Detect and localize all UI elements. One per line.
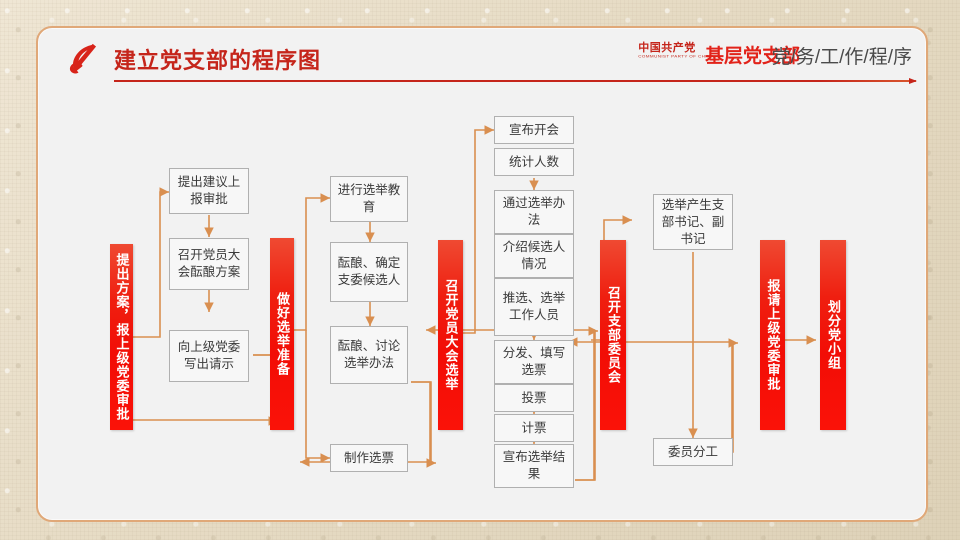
brand-subtitle: 党/务/工/作/程/序 [772, 42, 912, 69]
step-box-3-1[interactable]: 宣布开会 [494, 116, 574, 144]
stage-bar-3[interactable]: 召开党员大会选举 [438, 240, 463, 430]
step-box-2-3[interactable]: 酝酿、讨论选举办法 [330, 326, 408, 384]
stage-bar-4[interactable]: 召开支部委员会 [600, 240, 626, 430]
step-box-2-1[interactable]: 进行选举教育 [330, 176, 408, 222]
diagram-panel: 建立党支部的程序图 中国共产党 COMMUNIST PARTY OF CHINA… [36, 26, 928, 522]
step-box-3-8[interactable]: 计票 [494, 414, 574, 442]
step-box-3-3[interactable]: 通过选举办法 [494, 190, 574, 234]
step-box-4-2[interactable]: 委员分工 [653, 438, 733, 466]
brand-cpc-english: COMMUNIST PARTY OF CHINA [638, 54, 714, 59]
step-box-3-6[interactable]: 分发、填写选票 [494, 340, 574, 384]
step-box-3-9[interactable]: 宣布选举结果 [494, 444, 574, 488]
step-box-1-2[interactable]: 召开党员大会酝酿方案 [169, 238, 249, 290]
step-box-2-4[interactable]: 制作选票 [330, 444, 408, 472]
stage-bar-6[interactable]: 划分党小组 [820, 240, 846, 430]
step-box-3-5[interactable]: 推选、选举工作人员 [494, 278, 574, 336]
page-title: 建立党支部的程序图 [114, 43, 321, 75]
step-box-3-2[interactable]: 统计人数 [494, 148, 574, 176]
header: 建立党支部的程序图 中国共产党 COMMUNIST PARTY OF CHINA… [38, 28, 926, 90]
title-underline [114, 80, 916, 82]
stage-bar-2[interactable]: 做好选举准备 [270, 238, 294, 430]
step-box-4-1[interactable]: 选举产生支部书记、副书记 [653, 194, 733, 250]
step-box-2-2[interactable]: 酝酿、确定支委候选人 [330, 242, 408, 302]
stage-bar-5[interactable]: 报请上级党委审批 [760, 240, 785, 430]
step-box-3-4[interactable]: 介绍候选人情况 [494, 234, 574, 278]
brand-cpc-chinese: 中国共产党 [638, 42, 714, 54]
stage-bar-1[interactable]: 提出方案，报上级党委审批 [110, 244, 133, 430]
connector-lines [38, 90, 926, 520]
step-box-1-1[interactable]: 提出建议上报审批 [169, 168, 249, 214]
brand-cpc: 中国共产党 COMMUNIST PARTY OF CHINA [638, 42, 714, 60]
party-emblem-hammer-sickle-icon [66, 42, 104, 78]
step-box-1-3[interactable]: 向上级党委写出请示 [169, 330, 249, 382]
flowchart-canvas: 提出方案，报上级党委审批 做好选举准备 召开党员大会选举 召开支部委员会 报请上… [38, 90, 926, 520]
step-box-3-7[interactable]: 投票 [494, 384, 574, 412]
